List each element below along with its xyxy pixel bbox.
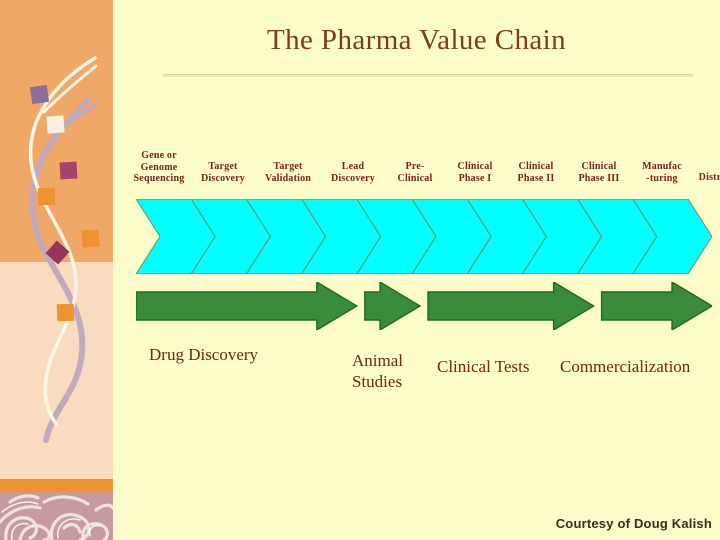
phase-arrows-svg (136, 282, 712, 330)
stage-label-clinical-phase-i: ClinicalPhase I (446, 161, 504, 184)
stage-label-clinical-phase-i-line-1: Phase I (446, 173, 504, 185)
phase-label-animal-studies-line-0: Animal (352, 350, 403, 371)
stage-label-lead-discovery-line-0: Lead (322, 161, 384, 173)
footer-credit: Courtesy of Doug Kalish (556, 516, 712, 531)
stage-label-manufacturing-line-1: -turing (632, 173, 692, 185)
phase-arrow-3 (602, 282, 712, 330)
square-mauve-1 (30, 85, 49, 104)
sidebar-decoration-svg (0, 0, 113, 540)
sidebar-paisley-pattern (0, 492, 113, 540)
stage-label-manufacturing-line-0: Manufac (632, 161, 692, 173)
chevron-band-svg (136, 199, 712, 274)
stage-label-clinical-phase-ii-line-1: Phase II (506, 173, 566, 185)
phase-label-drug-discovery-line-0: Drug Discovery (149, 344, 258, 365)
square-orange-1 (38, 188, 56, 206)
slide-canvas: The Pharma Value Chain Gene orGenomeSequ… (0, 0, 720, 540)
stage-label-distribution: Distribution (690, 172, 720, 184)
phase-label-clinical-tests: Clinical Tests (437, 356, 529, 377)
square-cream (46, 115, 64, 133)
phase-arrow-2 (428, 282, 594, 330)
stage-label-target-discovery: TargetDiscovery (192, 161, 254, 184)
stage-label-gene-genome-sequencing: Gene orGenomeSequencing (128, 150, 190, 185)
stage-label-target-discovery-line-0: Target (192, 161, 254, 173)
stage-label-clinical-phase-iii: ClinicalPhase III (568, 161, 630, 184)
phase-label-animal-studies: AnimalStudies (352, 350, 403, 392)
stage-label-pre-clinical-line-1: Clinical (386, 173, 444, 185)
phase-label-row: Drug DiscoveryAnimalStudiesClinical Test… (113, 340, 720, 400)
phase-label-commercialization-line-0: Commercialization (560, 356, 690, 377)
sidebar-curve-mauve (32, 100, 88, 440)
stage-label-target-discovery-line-1: Discovery (192, 173, 254, 185)
stage-label-clinical-phase-ii-line-0: Clinical (506, 161, 566, 173)
stage-label-distribution-line-0: Distribution (690, 172, 720, 184)
stage-label-target-validation: TargetValidation (256, 161, 320, 184)
stage-label-row: Gene orGenomeSequencingTargetDiscoveryTa… (128, 150, 712, 195)
phase-label-animal-studies-line-1: Studies (352, 371, 403, 392)
stage-label-target-validation-line-1: Validation (256, 173, 320, 185)
square-magenta (60, 162, 78, 180)
stage-label-manufacturing: Manufac-turing (632, 161, 692, 184)
square-orange-2 (81, 229, 99, 247)
phase-label-drug-discovery: Drug Discovery (149, 344, 258, 365)
square-orange-3 (57, 304, 75, 322)
sidebar-curve-cream-tail (44, 66, 96, 112)
stage-label-pre-clinical: Pre-Clinical (386, 161, 444, 184)
value-chain-chevron-band (136, 199, 712, 274)
stage-label-lead-discovery: LeadDiscovery (322, 161, 384, 184)
stage-label-gene-genome-sequencing-line-0: Gene or (128, 150, 190, 162)
stage-label-pre-clinical-line-0: Pre- (386, 161, 444, 173)
paisley-svg (0, 492, 113, 540)
phase-arrow-1 (365, 282, 420, 330)
sidebar-accent-bar (0, 479, 113, 492)
stage-label-lead-discovery-line-1: Discovery (322, 173, 384, 185)
phase-label-clinical-tests-line-0: Clinical Tests (437, 356, 529, 377)
phase-arrow-row (136, 282, 712, 330)
stage-label-gene-genome-sequencing-line-2: Sequencing (128, 173, 190, 185)
stage-label-clinical-phase-iii-line-0: Clinical (568, 161, 630, 173)
phase-arrow-0 (136, 282, 357, 330)
stage-label-clinical-phase-iii-line-1: Phase III (568, 173, 630, 185)
page-title: The Pharma Value Chain (113, 24, 720, 57)
title-divider (163, 74, 693, 77)
stage-label-clinical-phase-ii: ClinicalPhase II (506, 161, 566, 184)
stage-label-gene-genome-sequencing-line-1: Genome (128, 162, 190, 174)
stage-label-target-validation-line-0: Target (256, 161, 320, 173)
stage-label-clinical-phase-i-line-0: Clinical (446, 161, 504, 173)
phase-label-commercialization: Commercialization (560, 356, 690, 377)
decorative-sidebar (0, 0, 113, 540)
